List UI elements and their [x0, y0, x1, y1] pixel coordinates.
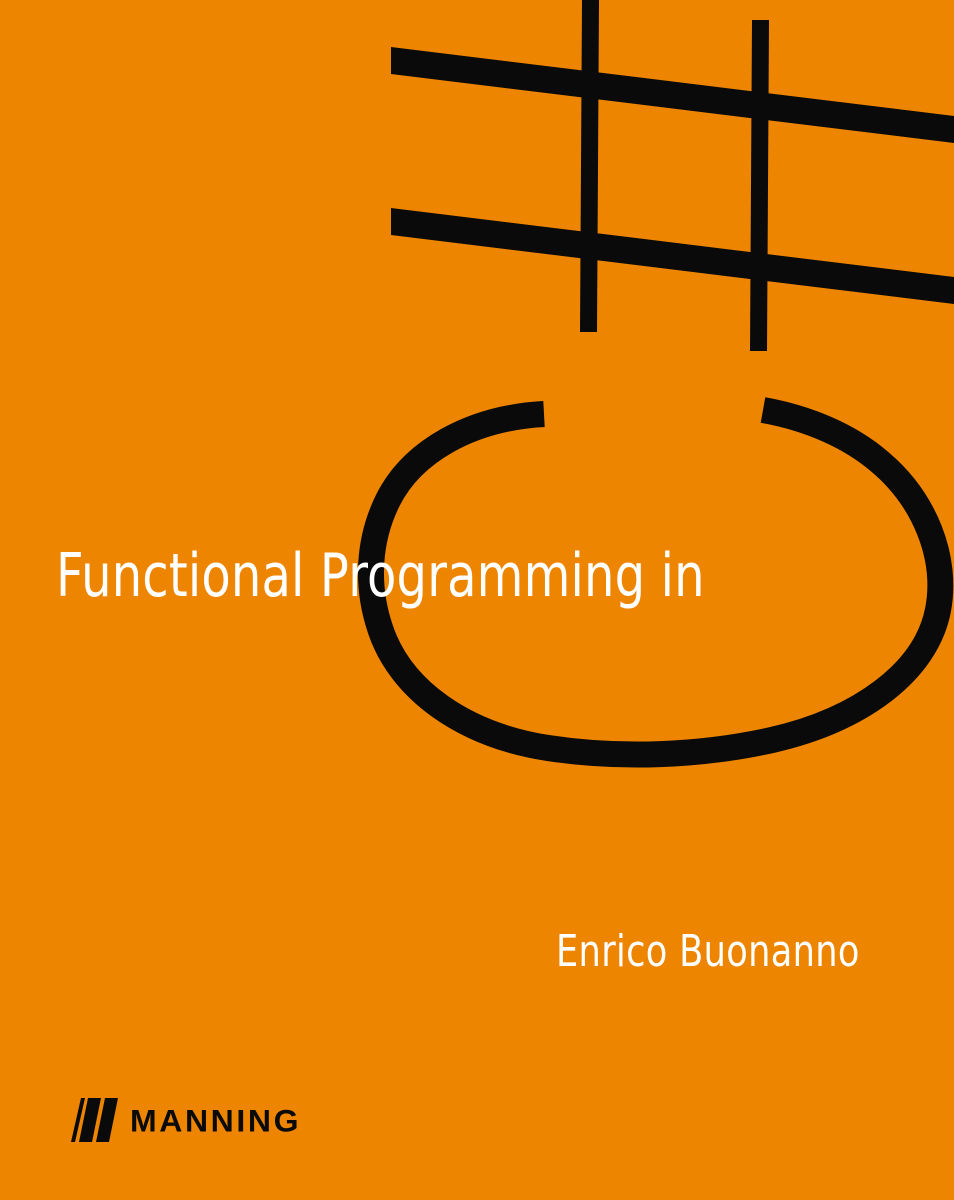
manning-book-mark-icon — [60, 1094, 122, 1146]
publisher-logo: MANNING — [60, 1094, 280, 1148]
hash-vertical-bar-right — [750, 20, 769, 351]
cover-title: Functional Programming in — [56, 546, 705, 606]
publisher-wordmark: MANNING — [130, 1105, 301, 1136]
cover-author: Enrico Buonanno — [556, 930, 860, 974]
book-cover: Functional Programming in Enrico Buonann… — [0, 0, 954, 1200]
hash-vertical-bar-left — [580, 0, 599, 332]
